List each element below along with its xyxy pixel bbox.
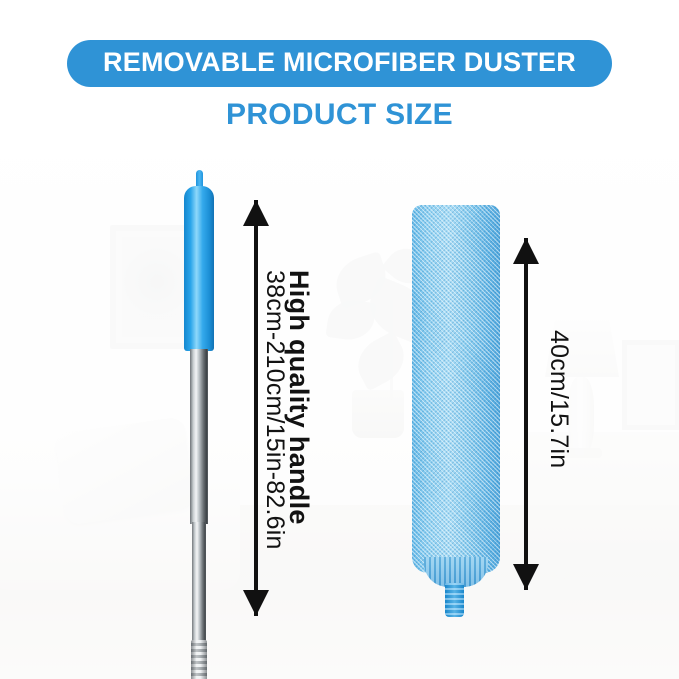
- arrow-head-up-icon: [513, 238, 539, 264]
- microfiber-pad-connector: [445, 583, 464, 617]
- product-handle-image: [168, 170, 232, 665]
- handle-dimension-title: High quality handle: [285, 270, 312, 525]
- handle-dimension-value: 38cm-210cm/15in-82.6in: [262, 270, 287, 550]
- page-subtitle: PRODUCT SIZE: [0, 98, 679, 132]
- header: REMOVABLE MICROFIBER DUSTER PRODUCT SIZE: [0, 0, 679, 132]
- arrow-head-down-icon: [513, 564, 539, 590]
- arrow-head-up-icon: [243, 200, 269, 226]
- product-infographic: REMOVABLE MICROFIBER DUSTER PRODUCT SIZE…: [0, 0, 679, 679]
- arrow-shaft: [254, 200, 258, 616]
- handle-grip: [184, 186, 214, 351]
- product-microfiber-pad-image: [412, 205, 500, 600]
- page-title: REMOVABLE MICROFIBER DUSTER: [67, 40, 612, 87]
- arrow-shaft: [524, 238, 528, 590]
- handle-pole-lower: [192, 522, 206, 644]
- pad-dimension-value: 40cm/15.7in: [546, 330, 571, 468]
- arrow-head-down-icon: [243, 590, 269, 616]
- handle-ribbed-shading: [191, 640, 207, 679]
- handle-pole-upper: [190, 349, 208, 524]
- microfiber-pad-body: [412, 205, 500, 573]
